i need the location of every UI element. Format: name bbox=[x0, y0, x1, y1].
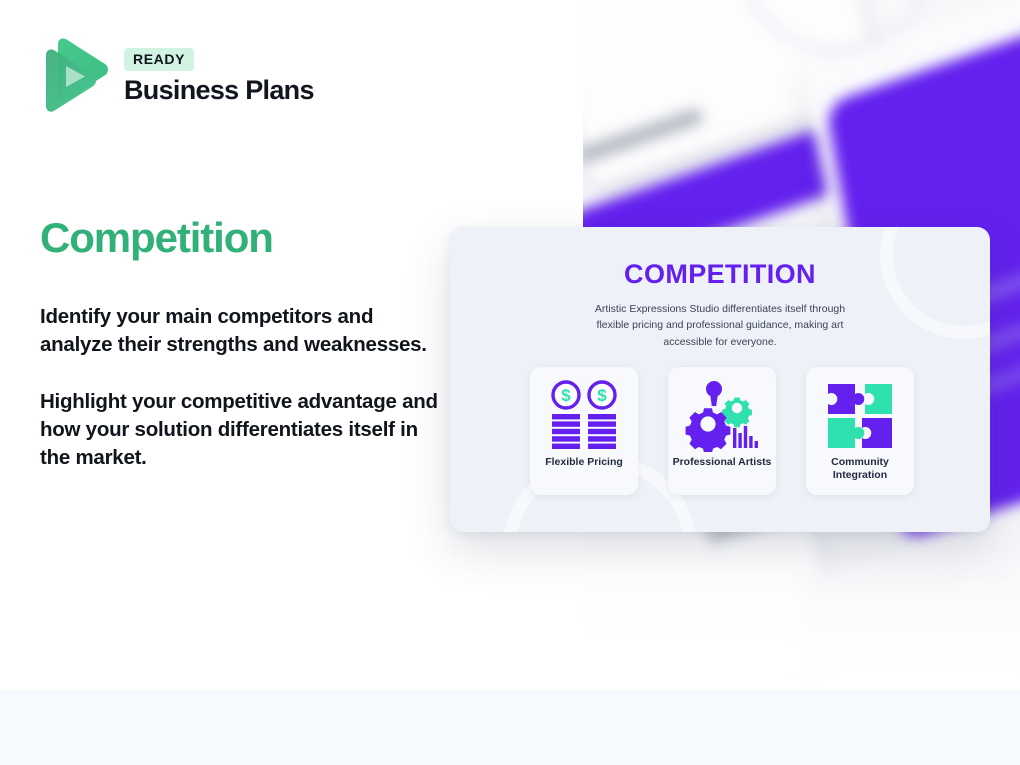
page-title: Competition bbox=[40, 216, 445, 260]
play-arrow-logo-icon bbox=[40, 38, 110, 116]
feature-card-community-integration[interactable]: Community Integration bbox=[806, 367, 914, 495]
feature-label-community-integration: Community Integration bbox=[806, 456, 914, 483]
gears-lightbulb-chart-icon bbox=[683, 378, 761, 454]
brand-name: Business Plans bbox=[124, 75, 314, 106]
feature-label-flexible-pricing: Flexible Pricing bbox=[545, 456, 623, 469]
left-copy-block: Competition Identify your main competito… bbox=[40, 216, 445, 473]
feature-card-flexible-pricing[interactable]: $ $ Flexible Pricing bbox=[530, 367, 638, 495]
slide-subtitle: Artistic Expressions Studio differentiat… bbox=[580, 301, 860, 350]
slide-title: COMPETITION bbox=[450, 259, 990, 290]
brand-logo[interactable]: READY Business Plans bbox=[40, 38, 314, 116]
feature-card-professional-artists[interactable]: Professional Artists bbox=[668, 367, 776, 495]
feature-card-row: $ $ Flexible Pricing bbox=[530, 367, 914, 495]
svg-text:$: $ bbox=[561, 386, 571, 405]
bottom-accent-band bbox=[0, 690, 1020, 765]
body-paragraph-1: Identify your main competitors and analy… bbox=[40, 303, 445, 360]
svg-text:$: $ bbox=[597, 386, 607, 405]
puzzle-pieces-icon bbox=[825, 378, 895, 454]
coin-stacks-icon: $ $ bbox=[546, 378, 622, 454]
brand-wordmark: READY Business Plans bbox=[124, 48, 314, 106]
feature-label-professional-artists: Professional Artists bbox=[673, 456, 772, 469]
slide-template-page: READY Business Plans Competition Identif… bbox=[0, 0, 1020, 765]
body-paragraph-2: Highlight your competitive advantage and… bbox=[40, 388, 445, 473]
ready-badge: READY bbox=[124, 48, 194, 71]
